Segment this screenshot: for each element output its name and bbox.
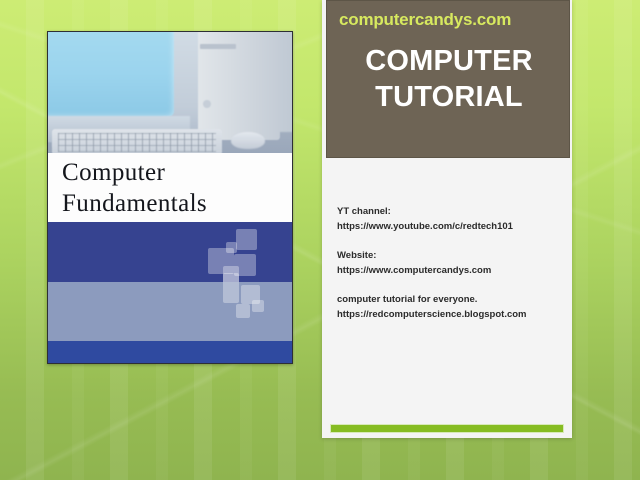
info-value[interactable]: https://www.computercandys.com <box>337 263 562 278</box>
main-title-line-2: TUTORIAL <box>339 79 559 115</box>
book-title-line-2: Fundamentals <box>62 188 292 219</box>
info-text-block: YT channel: https://www.youtube.com/c/re… <box>337 204 562 322</box>
main-title: COMPUTER TUTORIAL <box>339 43 559 115</box>
book-band-light-blue <box>48 282 292 341</box>
tower-power-button-shape <box>203 100 211 108</box>
info-label: computer tutorial for everyone. <box>337 292 562 307</box>
tower-drive-slot <box>200 44 236 49</box>
decorative-square <box>236 304 250 318</box>
info-value[interactable]: https://redcomputerscience.blogspot.com <box>337 307 562 322</box>
info-group-yt: YT channel: https://www.youtube.com/c/re… <box>337 204 562 234</box>
mouse-shape <box>231 132 265 149</box>
slide-canvas: Computer Fundamentals computercandys.com… <box>0 0 640 480</box>
book-title-line-1: Computer <box>62 157 292 188</box>
info-label: Website: <box>337 248 562 263</box>
site-name: computercandys.com <box>339 9 559 31</box>
book-band-dark-blue <box>48 222 292 282</box>
book-cover-image: Computer Fundamentals <box>47 31 293 364</box>
book-cover-photo <box>48 32 292 153</box>
info-value[interactable]: https://www.youtube.com/c/redtech101 <box>337 219 562 234</box>
book-title-band: Computer Fundamentals <box>48 153 292 222</box>
decorative-square <box>252 300 264 312</box>
main-title-line-1: COMPUTER <box>339 43 559 79</box>
crt-monitor-screen <box>48 32 174 117</box>
info-group-website: Website: https://www.computercandys.com <box>337 248 562 278</box>
info-label: YT channel: <box>337 204 562 219</box>
keyboard-keys-texture <box>58 133 216 152</box>
info-group-blog: computer tutorial for everyone. https://… <box>337 292 562 322</box>
accent-bar <box>330 424 564 433</box>
header-block: computercandys.com COMPUTER TUTORIAL <box>326 0 570 158</box>
content-panel: computercandys.com COMPUTER TUTORIAL YT … <box>322 0 572 438</box>
decorative-square <box>226 242 237 253</box>
decorative-square <box>236 229 257 250</box>
book-band-mid-blue <box>48 341 292 364</box>
decorative-square <box>223 273 239 303</box>
